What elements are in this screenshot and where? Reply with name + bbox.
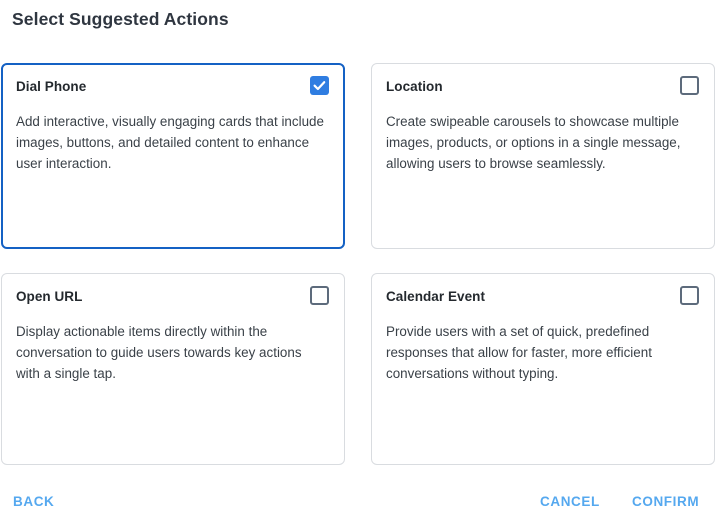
select-suggested-actions-dialog: Select Suggested Actions Dial Phone Add …	[0, 0, 717, 524]
suggested-actions-grid: Dial Phone Add interactive, visually eng…	[1, 63, 701, 465]
card-title: Location	[386, 77, 443, 96]
action-card-open-url[interactable]: Open URL Display actionable items direct…	[1, 273, 345, 465]
card-header: Dial Phone	[16, 77, 329, 99]
checkbox-unchecked-icon[interactable]	[310, 286, 329, 305]
card-description: Provide users with a set of quick, prede…	[386, 321, 699, 384]
card-header: Location	[386, 77, 699, 99]
checkbox-unchecked-icon[interactable]	[680, 76, 699, 95]
card-title: Dial Phone	[16, 77, 86, 96]
confirm-button[interactable]: CONFIRM	[632, 492, 699, 512]
checkbox-unchecked-icon[interactable]	[680, 286, 699, 305]
card-header: Calendar Event	[386, 287, 699, 309]
card-title: Calendar Event	[386, 287, 485, 306]
page-title: Select Suggested Actions	[12, 9, 229, 30]
card-header: Open URL	[16, 287, 329, 309]
action-card-dial-phone[interactable]: Dial Phone Add interactive, visually eng…	[1, 63, 345, 249]
card-title: Open URL	[16, 287, 82, 306]
action-card-location[interactable]: Location Create swipeable carousels to s…	[371, 63, 715, 249]
card-description: Add interactive, visually engaging cards…	[16, 111, 329, 174]
dialog-footer: BACK CANCEL CONFIRM	[0, 492, 717, 516]
back-button[interactable]: BACK	[13, 492, 54, 512]
card-description: Create swipeable carousels to showcase m…	[386, 111, 699, 174]
card-description: Display actionable items directly within…	[16, 321, 329, 384]
checkbox-checked-icon[interactable]	[310, 76, 329, 95]
cancel-button[interactable]: CANCEL	[540, 492, 600, 512]
action-card-calendar-event[interactable]: Calendar Event Provide users with a set …	[371, 273, 715, 465]
